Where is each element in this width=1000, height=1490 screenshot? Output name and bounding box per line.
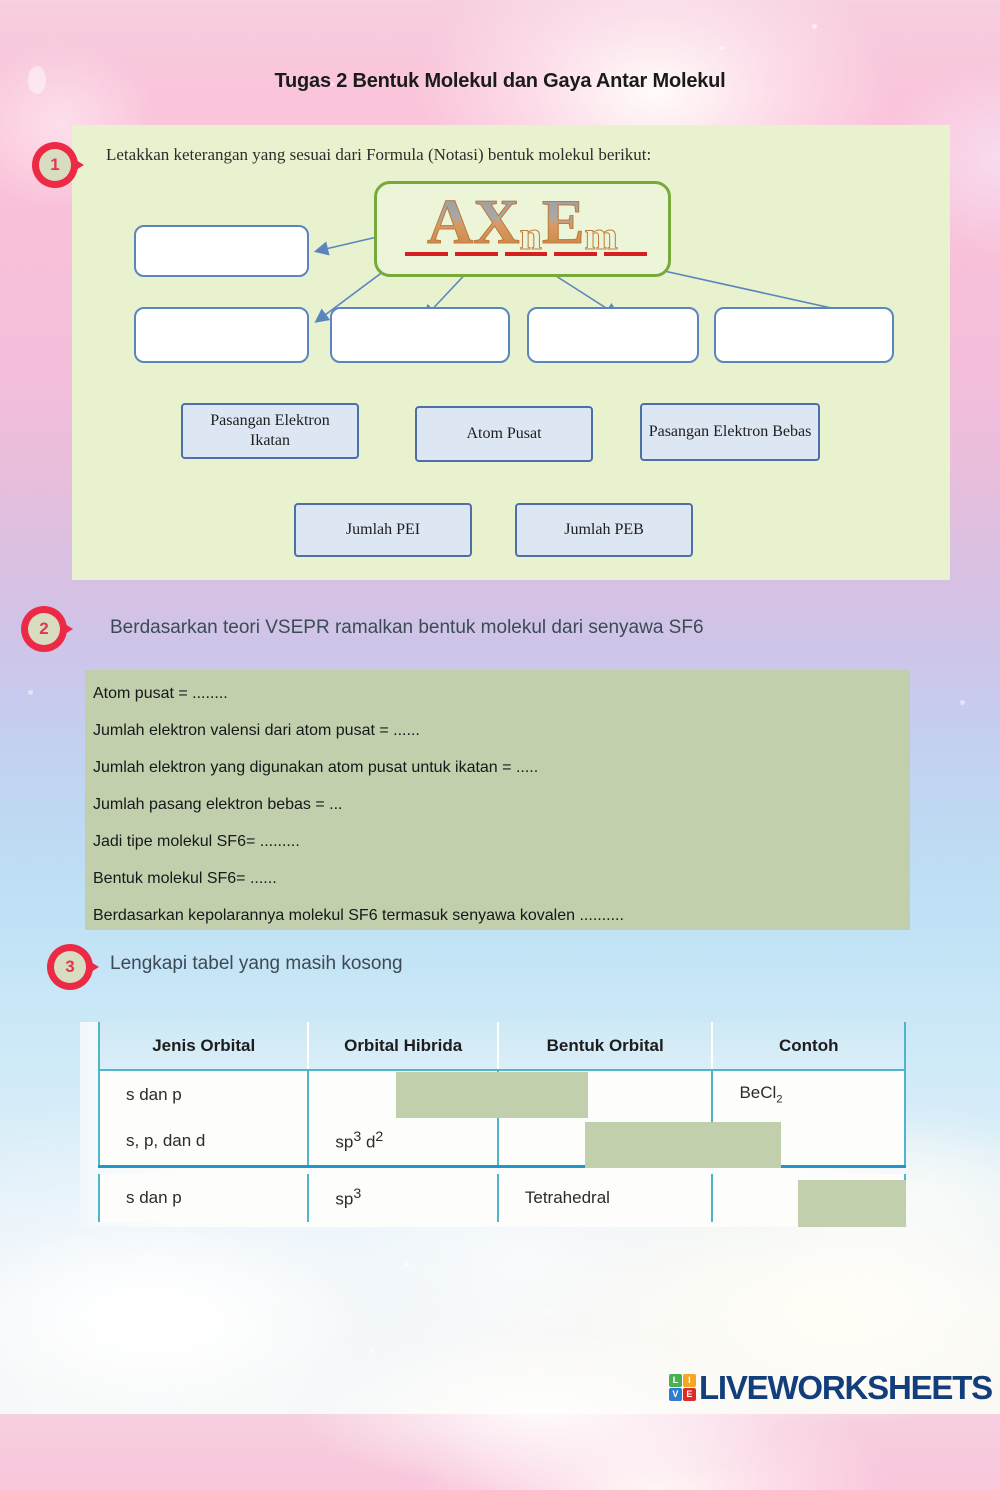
cell-hibrida-tail: d: [361, 1133, 375, 1152]
sparkle-decoration: [720, 46, 724, 50]
logo-cell-i: I: [683, 1374, 696, 1387]
cell-hibrida-base: sp: [335, 1133, 353, 1152]
choice-jumlah-pei[interactable]: Jumlah PEI: [294, 503, 472, 557]
sparkle-decoration: [812, 24, 817, 29]
choice-atom-pusat[interactable]: Atom Pusat: [415, 406, 593, 462]
table-blank-bentuk-orbital[interactable]: [585, 1122, 781, 1168]
question-2-line[interactable]: Jadi tipe molekul SF6= .........: [91, 834, 910, 850]
question-2-line[interactable]: Jumlah elektron yang digunakan atom pusa…: [91, 760, 910, 776]
question-2-line[interactable]: Jumlah elektron valensi dari atom pusat …: [91, 723, 910, 739]
formula-e: E: [542, 186, 585, 257]
question-2-prompt: Berdasarkan teori VSEPR ramalkan bentuk …: [110, 617, 704, 639]
formula-text: AXnEm: [377, 190, 668, 254]
cell-bentuk-orbital: Tetrahedral: [498, 1174, 713, 1222]
question-number-badge-1: 1: [32, 142, 90, 188]
choice-pasangan-elektron-bebas[interactable]: Pasangan Elektron Bebas: [640, 403, 820, 461]
question-1-instruction: Letakkan keterangan yang sesuai dari For…: [106, 145, 651, 165]
question-2-line[interactable]: Jumlah pasang elektron bebas = ...: [91, 797, 910, 813]
table-header-row: Jenis Orbital Orbital Hibrida Bentuk Orb…: [99, 1022, 905, 1070]
sparkle-decoration: [405, 1262, 409, 1266]
page-title: Tugas 2 Bentuk Molekul dan Gaya Antar Mo…: [0, 70, 1000, 93]
cloud-decoration: [0, 1225, 360, 1405]
cell-jenis-orbital: s, p, dan d: [99, 1118, 308, 1166]
cell-contoh: BeCl2: [712, 1070, 905, 1118]
question-2-answer-panel: Atom pusat = ........ Jumlah elektron va…: [85, 670, 910, 930]
badge-number: 1: [39, 149, 71, 181]
liveworksheets-wordmark: LIVEWORKSHEETS: [699, 1371, 992, 1404]
table-blank-orbital-hibrida[interactable]: [396, 1072, 588, 1118]
sparkle-decoration: [370, 1350, 373, 1353]
question-number-badge-3: 3: [47, 944, 105, 990]
cell-jenis-orbital: s dan p: [99, 1070, 308, 1118]
table-header-contoh: Contoh: [712, 1022, 905, 1070]
cell-contoh-text: BeCl: [739, 1083, 776, 1102]
liveworksheets-logo-icon: L I V E: [669, 1374, 696, 1401]
question-number-badge-2: 2: [21, 606, 79, 652]
question-3-prompt: Lengkapi tabel yang masih kosong: [110, 953, 403, 975]
formula-a: AX: [427, 186, 519, 257]
cell-hibrida-sup: 3: [353, 1186, 361, 1202]
table-row: s dan p sp3 Tetrahedral: [99, 1174, 905, 1222]
badge-number: 2: [28, 613, 60, 645]
cell-contoh-subscript: 2: [776, 1094, 782, 1106]
logo-cell-e: E: [683, 1388, 696, 1401]
cell-hibrida-base: sp: [335, 1190, 353, 1209]
logo-cell-v: V: [669, 1388, 682, 1401]
table-blank-contoh[interactable]: [798, 1180, 906, 1227]
choice-pasangan-elektron-ikatan[interactable]: Pasangan Elektron Ikatan: [181, 403, 359, 459]
question-1-panel: Letakkan keterangan yang sesuai dari For…: [72, 125, 950, 580]
formula-box: AXnEm: [374, 181, 671, 277]
sparkle-decoration: [960, 700, 965, 705]
table-row-spacer: [99, 1166, 905, 1174]
sparkle-decoration: [28, 690, 33, 695]
formula-underline-decoration: [405, 252, 647, 256]
answer-dropzone-1[interactable]: [134, 225, 309, 277]
sparkle-decoration: [545, 1310, 549, 1314]
orbital-table: Jenis Orbital Orbital Hibrida Bentuk Orb…: [80, 1022, 906, 1227]
cell-hibrida-tail-sup: 2: [375, 1129, 383, 1145]
table-header-jenis-orbital: Jenis Orbital: [99, 1022, 308, 1070]
answer-dropzone-3[interactable]: [330, 307, 510, 363]
table-header-orbital-hibrida: Orbital Hibrida: [308, 1022, 497, 1070]
liveworksheets-logo[interactable]: L I V E LIVEWORKSHEETS: [669, 1371, 992, 1404]
orbital-table-grid: Jenis Orbital Orbital Hibrida Bentuk Orb…: [98, 1022, 906, 1222]
cell-orbital-hibrida: sp3 d2: [308, 1118, 497, 1166]
logo-cell-l: L: [669, 1374, 682, 1387]
badge-number: 3: [54, 951, 86, 983]
answer-dropzone-5[interactable]: [714, 307, 894, 363]
table-header-bentuk-orbital: Bentuk Orbital: [498, 1022, 713, 1070]
answer-dropzone-2[interactable]: [134, 307, 309, 363]
cloud-decoration: [300, 1330, 780, 1490]
cell-jenis-orbital: s dan p: [99, 1174, 308, 1222]
question-2-line[interactable]: Bentuk molekul SF6= ......: [91, 871, 910, 887]
question-2-line[interactable]: Atom pusat = ........: [91, 686, 910, 702]
choice-jumlah-peb[interactable]: Jumlah PEB: [515, 503, 693, 557]
table-row: s, p, dan d sp3 d2 SF6: [99, 1118, 905, 1166]
cell-orbital-hibrida: sp3: [308, 1174, 497, 1222]
question-2-line[interactable]: Berdasarkan kepolarannya molekul SF6 ter…: [91, 908, 910, 924]
answer-dropzone-4[interactable]: [527, 307, 699, 363]
